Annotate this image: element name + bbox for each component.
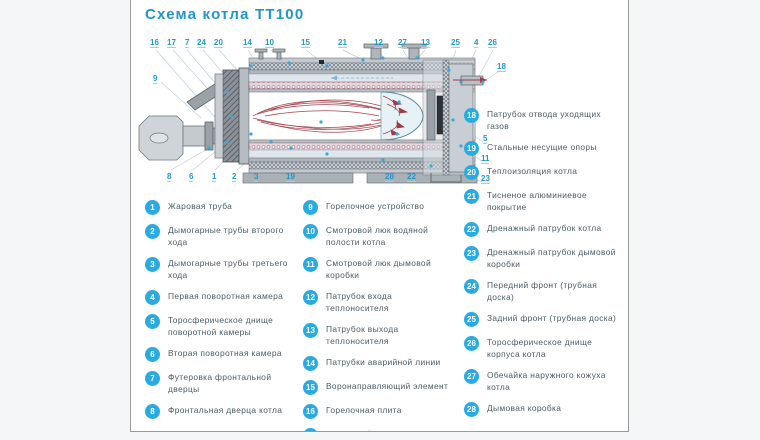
callout-19: 19	[286, 172, 295, 182]
diagram-panel: Схема котла ТТ100	[130, 0, 629, 432]
legend-label: Жаровая труба	[168, 200, 232, 215]
callout-15: 15	[301, 38, 310, 48]
legend-label: Дымогарные трубы второго хода	[168, 224, 295, 248]
legend-item-24: 24Передний фронт (трубная доска)	[464, 279, 624, 303]
legend-label: Вторая поворотная камера	[168, 347, 282, 362]
legend-item-22: 22Дренажный патрубок котла	[464, 222, 624, 237]
legend-badge: 2	[145, 224, 160, 239]
legend-badge: 3	[145, 257, 160, 272]
legend-label: Теплоизоляция котла	[487, 165, 577, 180]
legend-badge: 24	[464, 279, 479, 294]
legend-badge: 20	[464, 165, 479, 180]
legend-item-8: 8Фронтальная дверца котла	[145, 404, 295, 419]
legend-badge: 21	[464, 189, 479, 204]
legend-label: Горелочная плита	[326, 404, 402, 419]
legend-column-1: 1Жаровая труба 2Дымогарные трубы второго…	[145, 200, 295, 428]
legend-item-17: 17Смотровой глазок	[303, 428, 455, 432]
legend-label: Задний фронт (трубная доска)	[487, 312, 616, 327]
legend-badge: 22	[464, 222, 479, 237]
callout-20: 20	[214, 38, 223, 48]
callout-10: 10	[265, 38, 274, 48]
legend-badge: 10	[303, 224, 318, 239]
legend-item-12: 12Патрубок входа теплоносителя	[303, 290, 455, 314]
callout-7: 7	[185, 38, 189, 48]
legend-item-10: 10Смотровой люк водяной полости котла	[303, 224, 455, 248]
legend-item-9: 9Горелочное устройство	[303, 200, 455, 215]
legend-item-27: 27Обечайка наружного кожуха котла	[464, 369, 624, 393]
legend-item-28: 28Дымовая коробка	[464, 402, 624, 417]
callout-12: 12	[374, 38, 383, 48]
legend-label: Горелочное устройство	[326, 200, 424, 215]
legend-item-11: 11Смотровой люк дымовой коробки	[303, 257, 455, 281]
legend-item-16: 16Горелочная плита	[303, 404, 455, 419]
legend-item-23: 23Дренажный патрубок дымовой коробки	[464, 246, 624, 270]
legend-label: Дренажный патрубок котла	[487, 222, 602, 237]
legend-badge: 7	[145, 371, 160, 386]
legend-label: Дымогарные трубы третьего хода	[168, 257, 295, 281]
legend-badge: 8	[145, 404, 160, 419]
legend-badge: 9	[303, 200, 318, 215]
legend-label: Воронаправляющий элемент	[326, 380, 448, 395]
callout-13: 13	[421, 38, 430, 48]
legend-badge: 11	[303, 257, 318, 272]
legend-label: Первая поворотная камера	[168, 290, 283, 305]
legend-column-2: 9Горелочное устройство 10Смотровой люк в…	[303, 200, 455, 432]
legend-item-15: 15Воронаправляющий элемент	[303, 380, 455, 395]
callout-4: 4	[474, 38, 478, 48]
callout-26: 26	[488, 38, 497, 48]
callout-1: 1	[212, 172, 216, 182]
legend-label: Дымовая коробка	[487, 402, 561, 417]
legend-label: Футеровка фронтальной дверцы	[168, 371, 295, 395]
legend-label: Стальные несущие опоры	[487, 141, 597, 156]
callout-9: 9	[153, 74, 157, 84]
legend-badge: 14	[303, 356, 318, 371]
page-title: Схема котла ТТ100	[145, 6, 304, 23]
legend-label: Смотровой глазок	[326, 428, 401, 432]
legend-badge: 25	[464, 312, 479, 327]
legend-badge: 12	[303, 290, 318, 305]
legend-label: Патрубок отвода уходящих газов	[487, 108, 624, 132]
legend-item-4: 4Первая поворотная камера	[145, 290, 295, 305]
legend-badge: 1	[145, 200, 160, 215]
callout-8: 8	[167, 172, 171, 182]
callout-21: 21	[338, 38, 347, 48]
callout-24: 24	[197, 38, 206, 48]
legend-label: Патрубки аварийной линии	[326, 356, 441, 371]
legend-badge: 23	[464, 246, 479, 261]
legend-item-26: 26Торосферическое днище корпуса котла	[464, 336, 624, 360]
callout-17: 17	[167, 38, 176, 48]
legend-item-6: 6Вторая поворотная камера	[145, 347, 295, 362]
legend-item-2: 2Дымогарные трубы второго хода	[145, 224, 295, 248]
callout-16: 16	[150, 38, 159, 48]
legend-badge: 26	[464, 336, 479, 351]
legend-item-20: 20Теплоизоляция котла	[464, 165, 624, 180]
legend-badge: 5	[145, 314, 160, 329]
legend-column-3: 18Патрубок отвода уходящих газов 19Сталь…	[464, 108, 624, 426]
callout-2: 2	[232, 172, 236, 182]
legend-item-13: 13Патрубок выхода теплоносителя	[303, 323, 455, 347]
legend-label: Тисненое алюминиевое покрытие	[487, 189, 624, 213]
legend-label: Дренажный патрубок дымовой коробки	[487, 246, 624, 270]
legend-label: Обечайка наружного кожуха котла	[487, 369, 624, 393]
callout-3: 3	[254, 172, 258, 182]
callout-25: 25	[451, 38, 460, 48]
legend-item-19: 19Стальные несущие опоры	[464, 141, 624, 156]
legend-item-5: 5Торосферическое днище поворотной камеры	[145, 314, 295, 338]
legend-label: Фронтальная дверца котла	[168, 404, 282, 419]
legend-item-1: 1Жаровая труба	[145, 200, 295, 215]
legend-label: Смотровой люк водяной полости котла	[326, 224, 455, 248]
legend-badge: 16	[303, 404, 318, 419]
callout-27: 27	[398, 38, 407, 48]
legend-item-18: 18Патрубок отвода уходящих газов	[464, 108, 624, 132]
callout-6: 6	[189, 172, 193, 182]
legend-badge: 17	[303, 428, 318, 432]
legend-label: Передний фронт (трубная доска)	[487, 279, 624, 303]
legend-badge: 19	[464, 141, 479, 156]
legend-item-25: 25Задний фронт (трубная доска)	[464, 312, 624, 327]
legend-label: Патрубок входа теплоносителя	[326, 290, 455, 314]
legend-label: Патрубок выхода теплоносителя	[326, 323, 455, 347]
legend-item-7: 7Футеровка фронтальной дверцы	[145, 371, 295, 395]
legend-label: Торосферическое днище корпуса котла	[487, 336, 624, 360]
callout-22: 22	[407, 172, 416, 182]
legend-item-14: 14Патрубки аварийной линии	[303, 356, 455, 371]
legend-badge: 28	[464, 402, 479, 417]
legend-badge: 13	[303, 323, 318, 338]
legend-label: Торосферическое днище поворотной камеры	[168, 314, 295, 338]
legend-badge: 27	[464, 369, 479, 384]
legend-label: Смотровой люк дымовой коробки	[326, 257, 455, 281]
legend-item-3: 3Дымогарные трубы третьего хода	[145, 257, 295, 281]
legend-item-21: 21Тисненое алюминиевое покрытие	[464, 189, 624, 213]
callout-18: 18	[497, 62, 506, 72]
legend-badge: 15	[303, 380, 318, 395]
legend-badge: 6	[145, 347, 160, 362]
callout-14: 14	[243, 38, 252, 48]
legend-badge: 18	[464, 108, 479, 123]
callout-28: 28	[385, 172, 394, 182]
legend-badge: 4	[145, 290, 160, 305]
